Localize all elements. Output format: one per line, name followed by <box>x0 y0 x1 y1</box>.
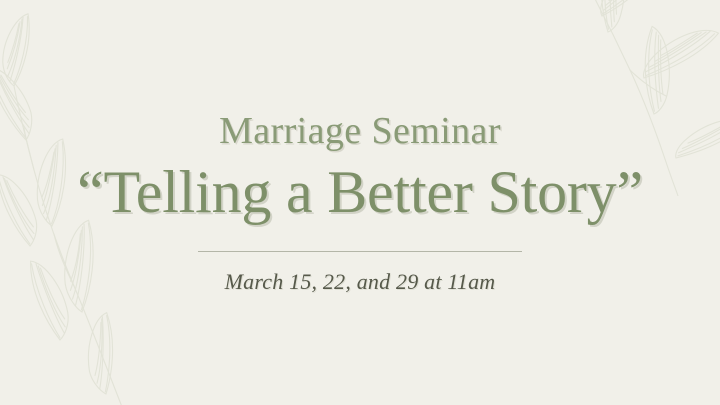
seminar-eyebrow-title: Marriage Seminar <box>219 112 501 150</box>
seminar-dateline: March 15, 22, and 29 at 11am <box>225 271 496 293</box>
slide-content: Marriage Seminar “Telling a Better Story… <box>0 0 720 405</box>
seminar-headline: “Telling a Better Story” <box>77 160 643 225</box>
event-announcement-slide: Marriage Seminar “Telling a Better Story… <box>0 0 720 405</box>
divider-rule <box>198 251 522 252</box>
